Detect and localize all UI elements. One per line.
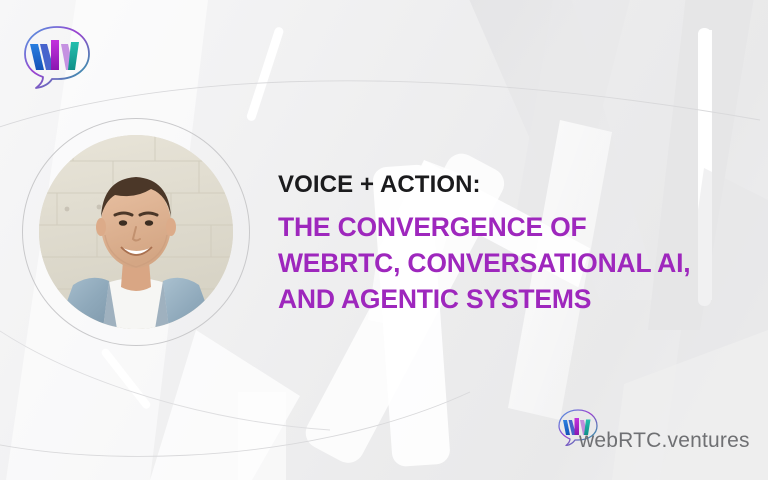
footer-wordmark: webRTC.ventures <box>579 429 750 453</box>
logo-svg <box>18 18 96 90</box>
speaker-photo <box>39 135 233 329</box>
title-line-1: VOICE + ACTION: <box>278 168 748 202</box>
presentation-slide: VOICE + ACTION: THE CONVERGENCE OF WEBRT… <box>0 0 768 480</box>
title-line-4: AND AGENTIC SYSTEMS <box>278 281 748 317</box>
speaker-photo-illustration <box>39 135 233 329</box>
right-eye <box>145 220 153 226</box>
slide-title: VOICE + ACTION: THE CONVERGENCE OF WEBRT… <box>278 168 748 317</box>
footer-brand: webRTC.ventures <box>556 406 756 462</box>
speaker-portrait <box>22 118 250 346</box>
left-eye <box>119 220 127 226</box>
title-line-3: WEBRTC, CONVERSATIONAL AI, <box>278 245 748 281</box>
title-line-2: THE CONVERGENCE OF <box>278 209 748 245</box>
webrtc-ventures-logo-icon <box>18 18 96 90</box>
logo-w-letterforms <box>30 40 79 70</box>
